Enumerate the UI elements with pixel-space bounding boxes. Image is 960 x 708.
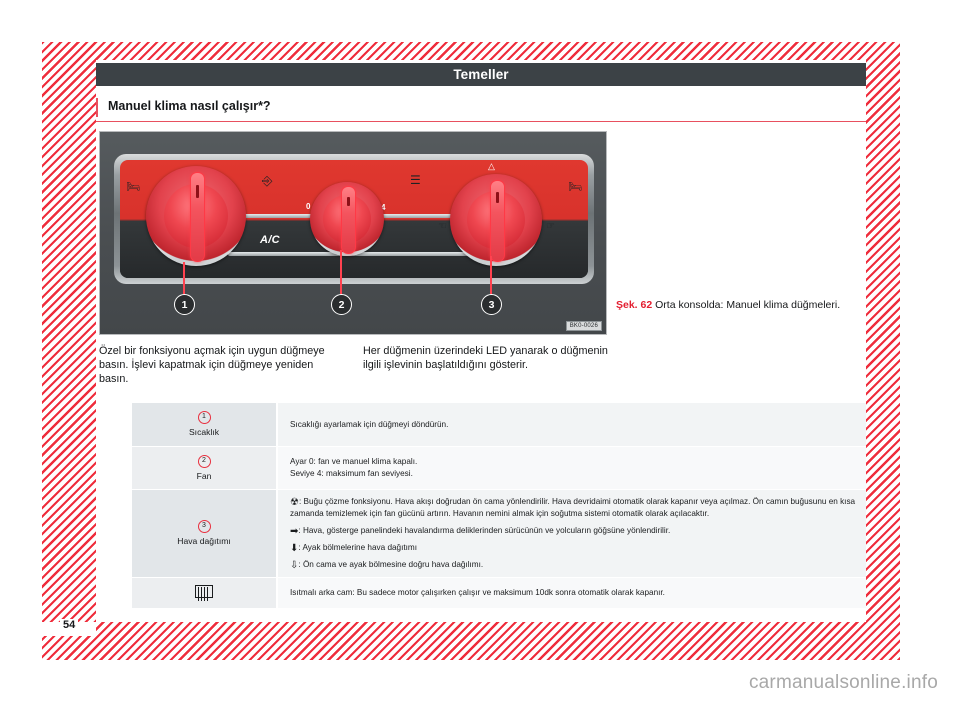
figure-code: BK0-0026 [566,321,602,331]
figure-caption-text: Orta konsolda: Manuel klima düğmeleri. [655,299,840,311]
manual-page: Temeller Manuel klima nasıl çalışır*? 🛏 … [0,0,960,708]
table-row-2-line-1: Ayar 0: fan ve manuel klima kapalı. [290,456,858,468]
figure-caption-label: Şek. 62 [616,299,652,311]
figure-caption: Şek. 62 Orta konsolda: Manuel klima düğm… [616,299,866,313]
air-recirculation-icon: ⎆ [262,174,272,187]
chapter-title: Temeller [453,67,508,82]
fan-scale-0: 0 [306,202,310,211]
seat-heating-left-icon: 🛏 [126,182,140,193]
foot-vent-icon: ☞ [546,222,555,232]
table-row-3-label: Hava dağıtımı [136,536,272,548]
table-row-3-line-4: ⇩: Ön cama ve ayak bölmesine doğru hava … [290,559,858,571]
table-row: 3 Hava dağıtımı ☢: Buğu çözme fonksiyonu… [132,490,866,578]
table-row-4-description-cell: Isıtmalı arka cam: Bu sadece motor çalış… [277,577,866,609]
table-row-1-badge: 1 [198,411,211,424]
body-paragraph-right: Her düğmenin üzerindeki LED yanarak o dü… [363,344,609,387]
body-paragraph-left: Özel bir fonksiyonu açmak için uygun düğ… [99,344,345,387]
table-row-1-label-cell: 1 Sıcaklık [132,403,277,446]
table-row-2-description-cell: Ayar 0: fan ve manuel klima kapalı. Sevi… [277,446,866,490]
table-row: 1 Sıcaklık Sıcaklığı ayarlamak için düğm… [132,403,866,446]
table-row-3-line-3: ⬇: Ayak bölmelerine hava dağıtımı [290,542,858,554]
controls-table: 1 Sıcaklık Sıcaklığı ayarlamak için düğm… [132,403,866,609]
figure-callout-3: 3 [481,294,502,315]
page-title: Manuel klima nasıl çalışır*? [108,98,866,114]
table-row-1-description-cell: Sıcaklığı ayarlamak için düğmeyi döndürü… [277,403,866,446]
callout-stem-3 [490,256,492,294]
table-row-3-badge: 3 [198,520,211,533]
seat-heating-right-icon: 🛏 [568,182,582,193]
table-row: 2 Fan Ayar 0: fan ve manuel klima kapalı… [132,446,866,490]
temperature-knob-pointer [190,172,205,262]
table-row-1-label: Sıcaklık [136,427,272,439]
figure-callout-1: 1 [174,294,195,315]
climate-control-unit: 🛏 ⎆ ☰ 🛏 A/C 0 1 2 3 4 [114,154,594,284]
air-distribution-knob[interactable] [450,174,542,266]
air-distribution-knob-tick [496,192,499,203]
table-row: Isıtmalı arka cam: Bu sadece motor çalış… [132,577,866,609]
section-heading-inner: Manuel klima nasıl çalışır*? [96,98,866,117]
table-row-3-line-1-text: : Buğu çözme fonksiyonu. Hava akışı doğr… [290,497,855,518]
table-row-2-badge: 2 [198,455,211,468]
chapter-header-bar: Temeller [96,63,866,86]
rear-window-defroster-icon: ☰ [410,174,421,186]
table-row-3-line-2-text: : Hava, gösterge panelindeki havalandırm… [298,526,670,535]
rear-window-defroster-icon [195,585,213,598]
section-underline [96,121,866,122]
callout-stem-2 [340,250,342,294]
air-distribution-knob-pointer [490,180,505,263]
table-row-4-line-1: Isıtmalı arka cam: Bu sadece motor çalış… [290,587,858,599]
table-row-3-line-3-text: : Ayak bölmelerine hava dağıtımı [298,543,417,552]
table-row-3-line-1: ☢: Buğu çözme fonksiyonu. Hava akışı doğ… [290,496,858,520]
table-row-2-label-cell: 2 Fan [132,446,277,490]
ac-label: A/C [260,234,280,246]
body-columns: Özel bir fonksiyonu açmak için uygun düğ… [99,344,609,387]
section-heading: Manuel klima nasıl çalışır*? [96,98,866,117]
table-row-3-description-cell: ☢: Buğu çözme fonksiyonu. Hava akışı doğ… [277,490,866,578]
temperature-knob-tick [196,185,199,197]
page-number: 54 [60,619,78,631]
windscreen-defroster-icon: △ [488,162,495,171]
callout-stem-1 [183,262,185,294]
fan-knob-tick [347,197,350,206]
figure-callout-2: 2 [331,294,352,315]
temperature-knob[interactable] [146,166,246,266]
watermark: carmanualsonline.info [749,672,938,694]
table-row-3-line-2: ➡: Hava, gösterge panelindeki havalandır… [290,525,858,537]
table-row-3-label-cell: 3 Hava dağıtımı [132,490,277,578]
table-row-2-line-2: Seviye 4: maksimum fan seviyesi. [290,468,858,480]
defrost-vent-icon: ☢ [290,498,299,508]
body-vent-icon: ☜ [438,222,447,232]
figure-climate-controls: 🛏 ⎆ ☰ 🛏 A/C 0 1 2 3 4 [99,131,607,335]
table-row-1-line-1: Sıcaklığı ayarlamak için düğmeyi döndürü… [290,419,858,431]
table-row-2-label: Fan [136,471,272,483]
figure-background: 🛏 ⎆ ☰ 🛏 A/C 0 1 2 3 4 [100,132,606,334]
fan-knob[interactable] [310,182,384,256]
table-row-4-label-cell [132,577,277,609]
table-row-3-line-4-text: : Ön cama ve ayak bölmesine doğru hava d… [298,560,483,569]
climate-control-faceplate: 🛏 ⎆ ☰ 🛏 A/C 0 1 2 3 4 [120,160,588,278]
fan-knob-pointer [341,186,356,253]
